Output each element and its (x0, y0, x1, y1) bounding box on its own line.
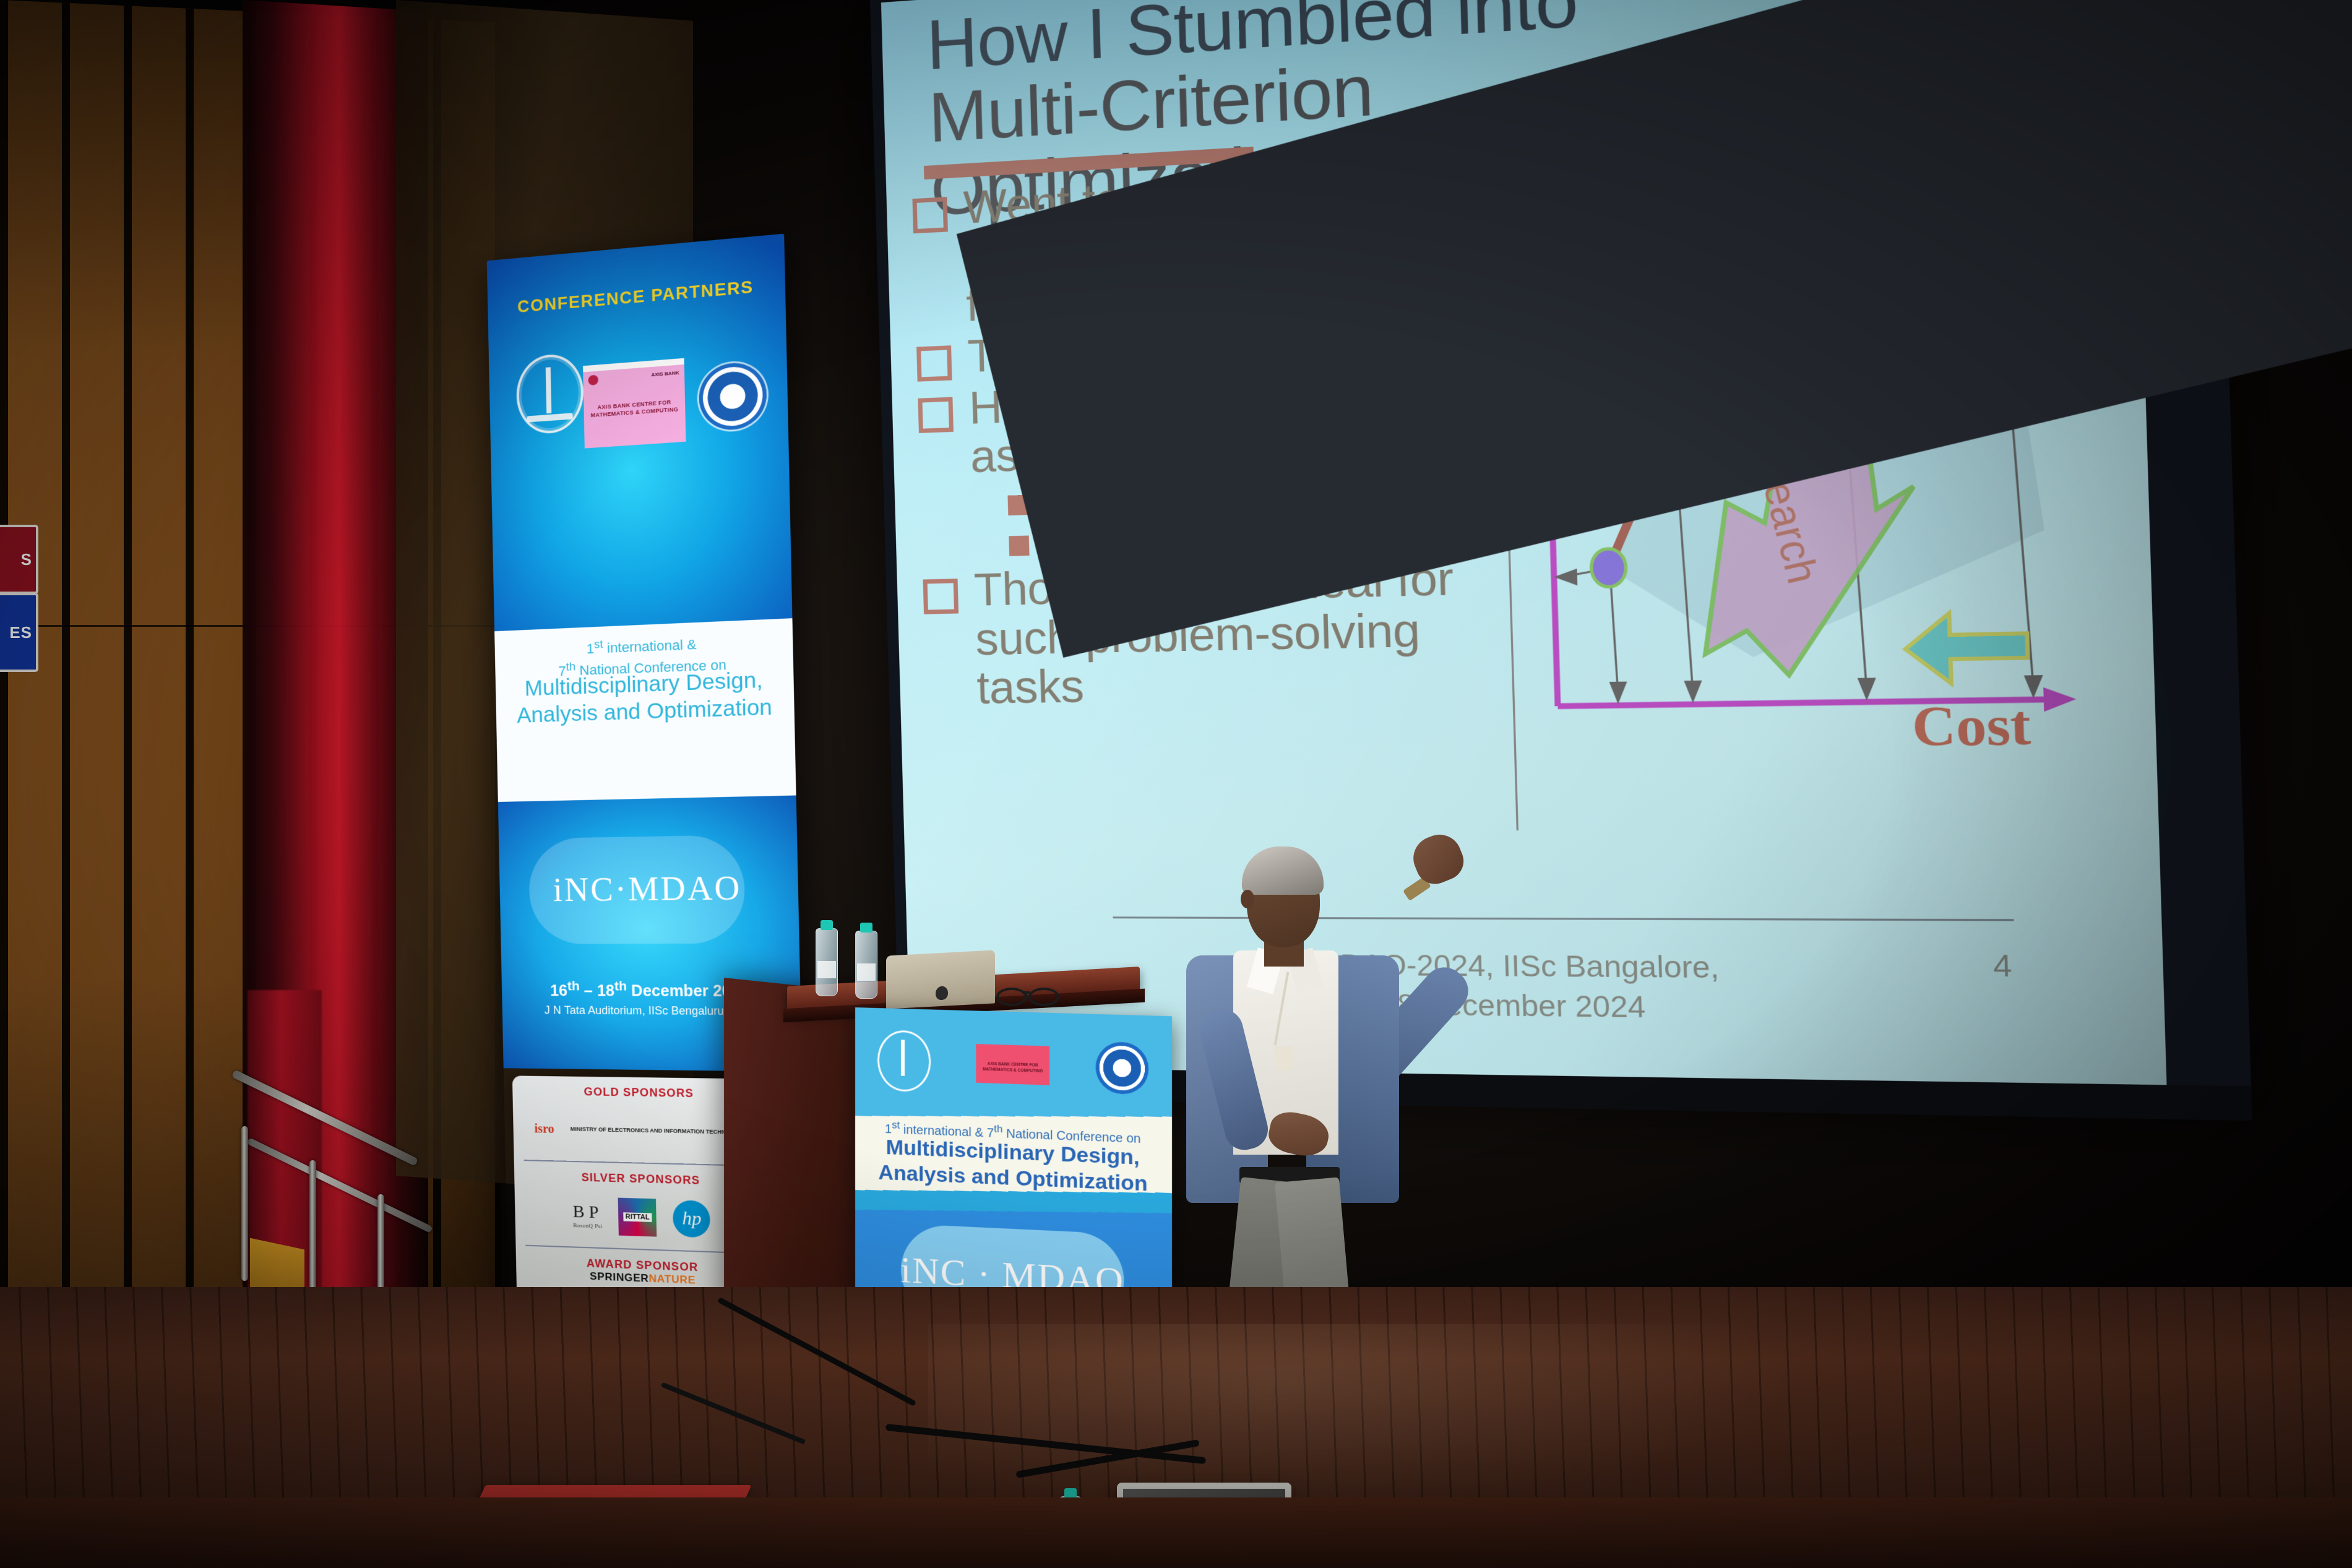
apple-logo-icon (936, 986, 948, 1000)
hp-logo-icon: hp (673, 1200, 710, 1238)
exit-sign-blue: ES (0, 593, 38, 672)
banner-event-logo: iNC·MDAO (499, 868, 798, 910)
banner-partners-heading: CONFERENCE PARTNERS (488, 275, 785, 319)
iisc-logo-icon (516, 352, 585, 436)
speaker-ear (1241, 890, 1254, 908)
auditorium-scene: S ES How I Stumbled into Multi-Criterion… (0, 0, 2352, 1568)
axis-card-text: AXIS BANK CENTRE FOR MATHEMATICS & COMPU… (976, 1061, 1049, 1075)
projection-screen: How I Stumbled into Multi-Criterion Opti… (869, 0, 2252, 1119)
lectern-logo-row: AXIS BANK CENTRE FOR MATHEMATICS & COMPU… (855, 1019, 1172, 1112)
name-badge (1275, 1046, 1293, 1070)
banner-conference-title: Multidisciplinary Design, Analysis and O… (501, 666, 790, 730)
eyeglasses (996, 988, 1077, 1004)
aeronautical-society-logo-icon (699, 361, 767, 432)
iisc-logo-icon (877, 1030, 931, 1092)
axis-card-text: AXIS BANK CENTRE FOR MATHEMATICS & COMPU… (584, 397, 685, 420)
axis-bank-centre-logo-icon: AXIS BANK CENTRE FOR MATHEMATICS & COMPU… (976, 1044, 1049, 1085)
banner-partners-panel: CONFERENCE PARTNERS AXIS BANK AXIS BANK … (487, 234, 793, 638)
axis-bank-centre-logo-icon: AXIS BANK AXIS BANK CENTRE FOR MATHEMATI… (583, 358, 686, 449)
water-bottle (855, 931, 877, 999)
rittal-logo-icon: RITTAL (618, 1198, 657, 1237)
isro-logo-icon: isro (534, 1122, 554, 1137)
springer-word: SPRINGER (590, 1270, 649, 1285)
bqp-label: BosonQ Psi (573, 1222, 602, 1230)
exit-sign-red: S (0, 525, 38, 594)
nature-word: NATURE (648, 1272, 696, 1286)
stage-apron (0, 1497, 2352, 1568)
bqp-mark: B P (573, 1202, 599, 1223)
floor-reflection (928, 1324, 1794, 1510)
rittal-label: RITTAL (623, 1212, 652, 1222)
banner-title-panel: 1st international &7th National Conferen… (494, 618, 796, 804)
meity-logo-icon: MINISTRY OF ELECTRONICS AND INFORMATION … (571, 1126, 747, 1137)
water-bottle (816, 928, 838, 996)
exit-sign-blue-label: ES (9, 623, 32, 642)
aeronautical-society-logo-icon (1096, 1041, 1149, 1095)
exit-sign-red-label: S (21, 550, 32, 569)
laptop-closed[interactable] (886, 950, 995, 1009)
bosonq-psi-logo-icon: B P BosonQ Psi (573, 1202, 603, 1230)
speaker-raised-hand (1407, 828, 1470, 890)
speaker-hair (1242, 846, 1324, 895)
